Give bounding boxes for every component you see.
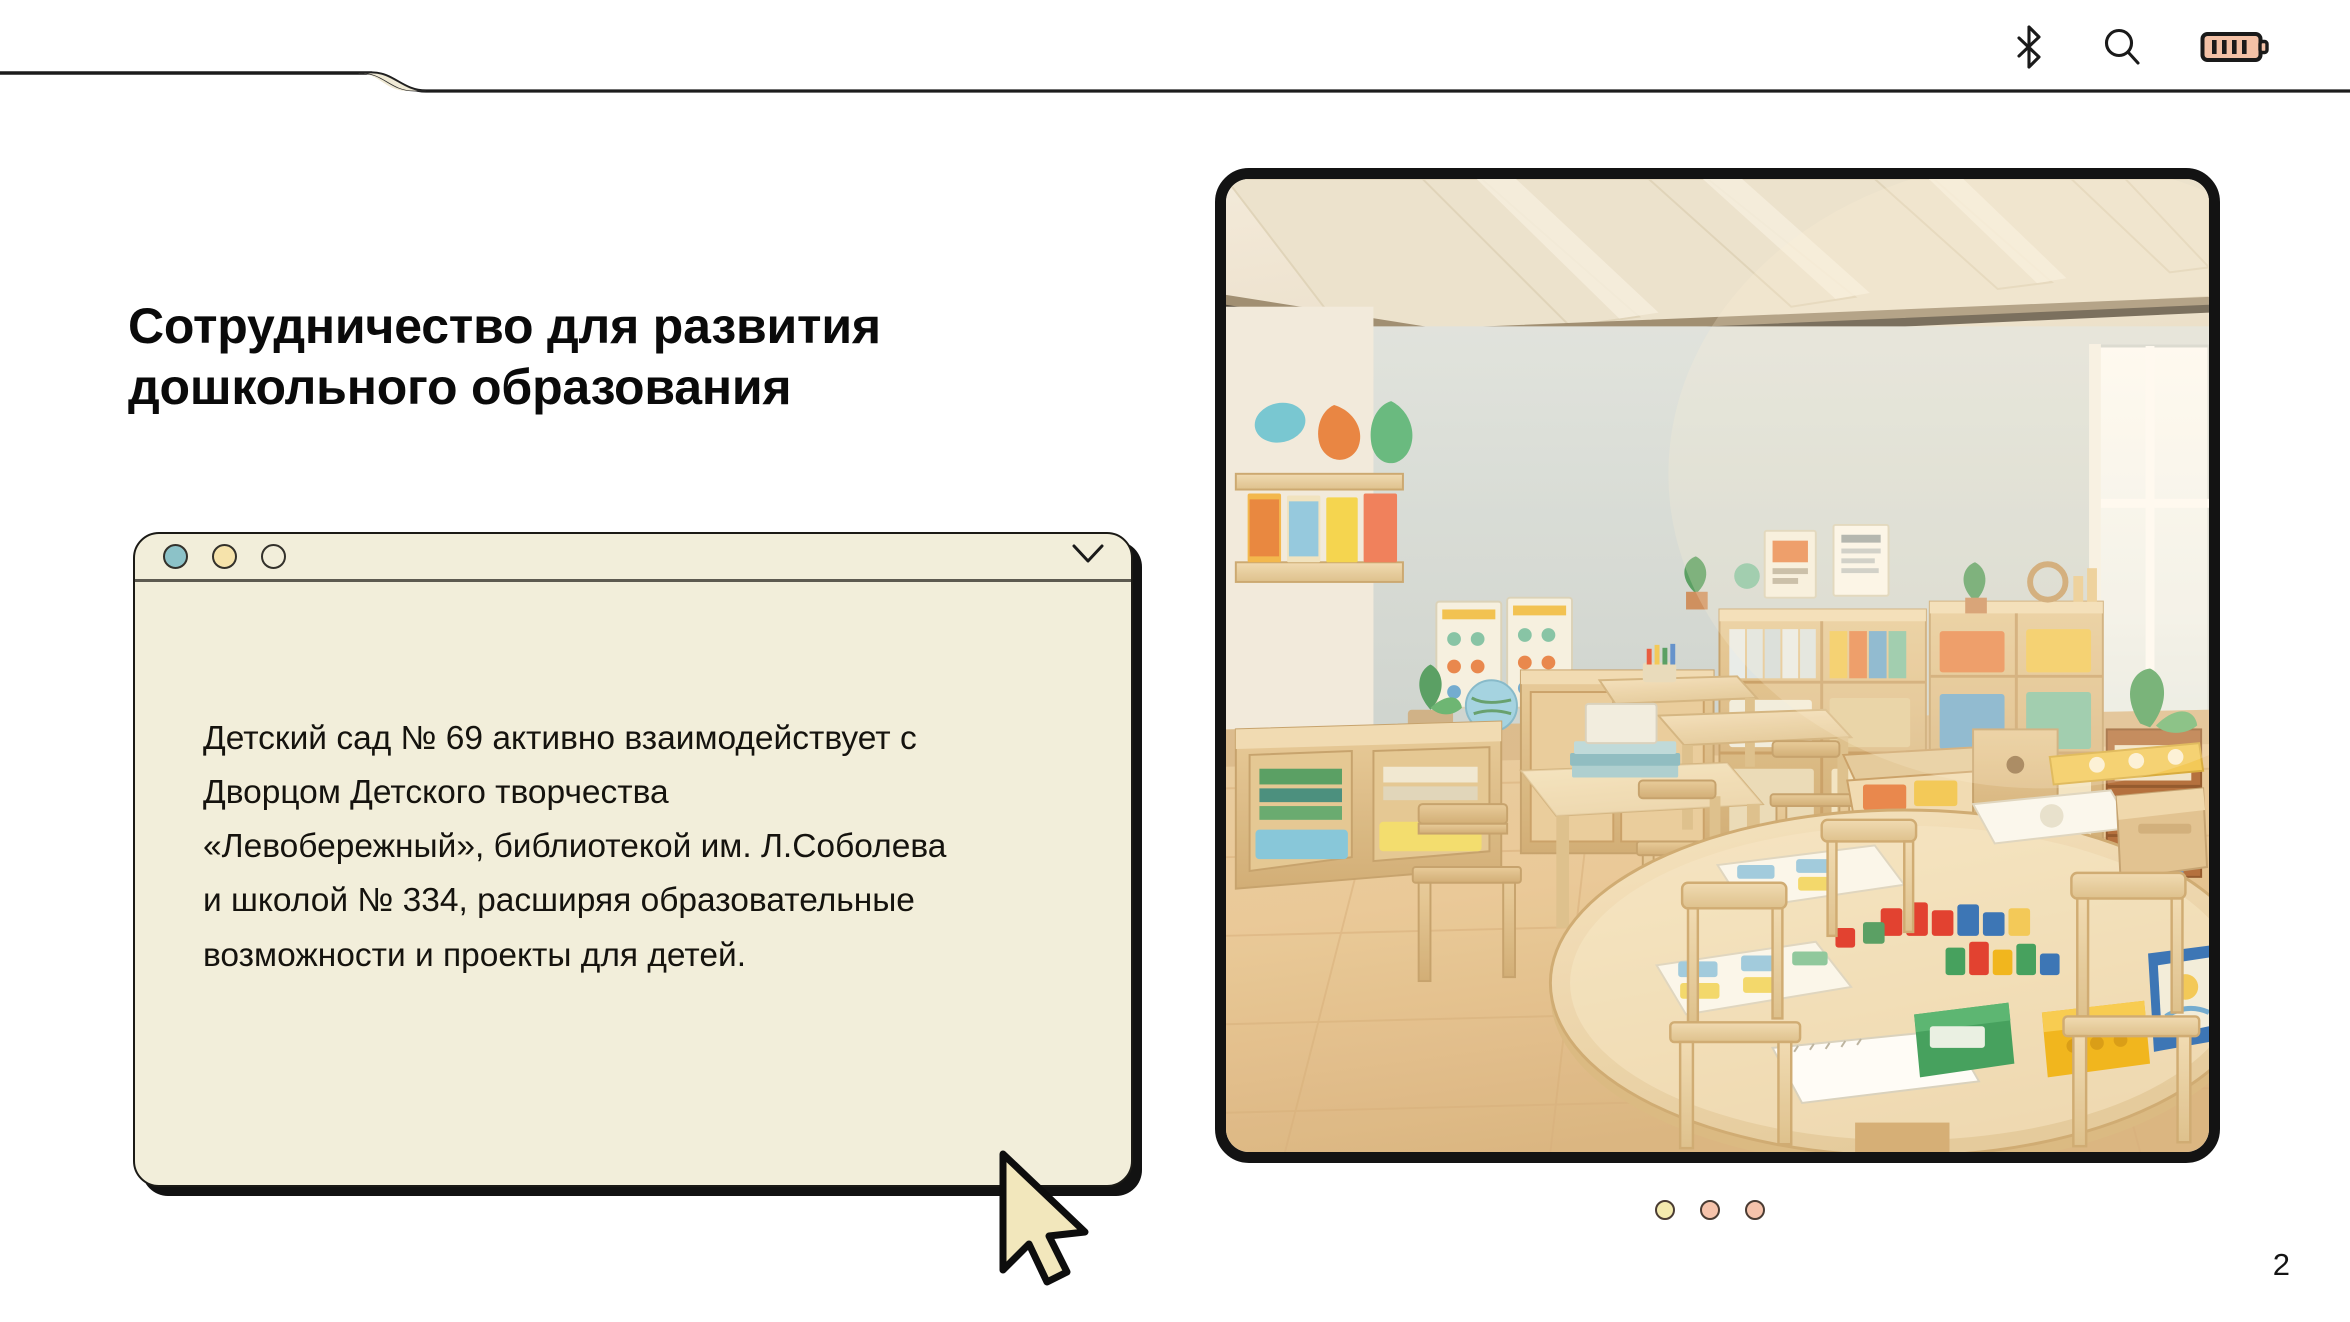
window-dot-empty[interactable] xyxy=(261,544,286,569)
page-title-line-2: дошкольного образования xyxy=(128,357,1138,418)
page-title: Сотрудничество для развития дошкольного … xyxy=(128,296,1138,418)
chevron-down-icon[interactable] xyxy=(1071,543,1105,570)
card-titlebar xyxy=(135,534,1131,582)
bluetooth-icon[interactable] xyxy=(2014,25,2044,69)
top-decorative-rule xyxy=(0,0,2350,130)
search-icon[interactable] xyxy=(2102,26,2142,68)
window-dot-teal[interactable] xyxy=(163,544,188,569)
card-body-text: Детский сад № 69 активно взаимодействует… xyxy=(203,712,1063,983)
window-controls xyxy=(163,544,286,569)
card-window: Детский сад № 69 активно взаимодействует… xyxy=(133,532,1133,1187)
pager-dot-3[interactable] xyxy=(1745,1200,1765,1220)
pager-dot-1[interactable] xyxy=(1655,1200,1675,1220)
pagination-dots[interactable] xyxy=(1655,1200,1765,1220)
status-bar xyxy=(2014,22,2270,72)
card-content: Детский сад № 69 активно взаимодействует… xyxy=(135,582,1131,983)
battery-icon[interactable] xyxy=(2200,27,2270,67)
slide-root: Сотрудничество для развития дошкольного … xyxy=(0,0,2350,1322)
page-number: 2 xyxy=(2273,1249,2290,1280)
window-dot-yellow[interactable] xyxy=(212,544,237,569)
page-title-line-1: Сотрудничество для развития xyxy=(128,296,1138,357)
info-card: Детский сад № 69 активно взаимодействует… xyxy=(133,532,1133,1187)
classroom-photo xyxy=(1215,168,2220,1163)
pager-dot-2[interactable] xyxy=(1700,1200,1720,1220)
